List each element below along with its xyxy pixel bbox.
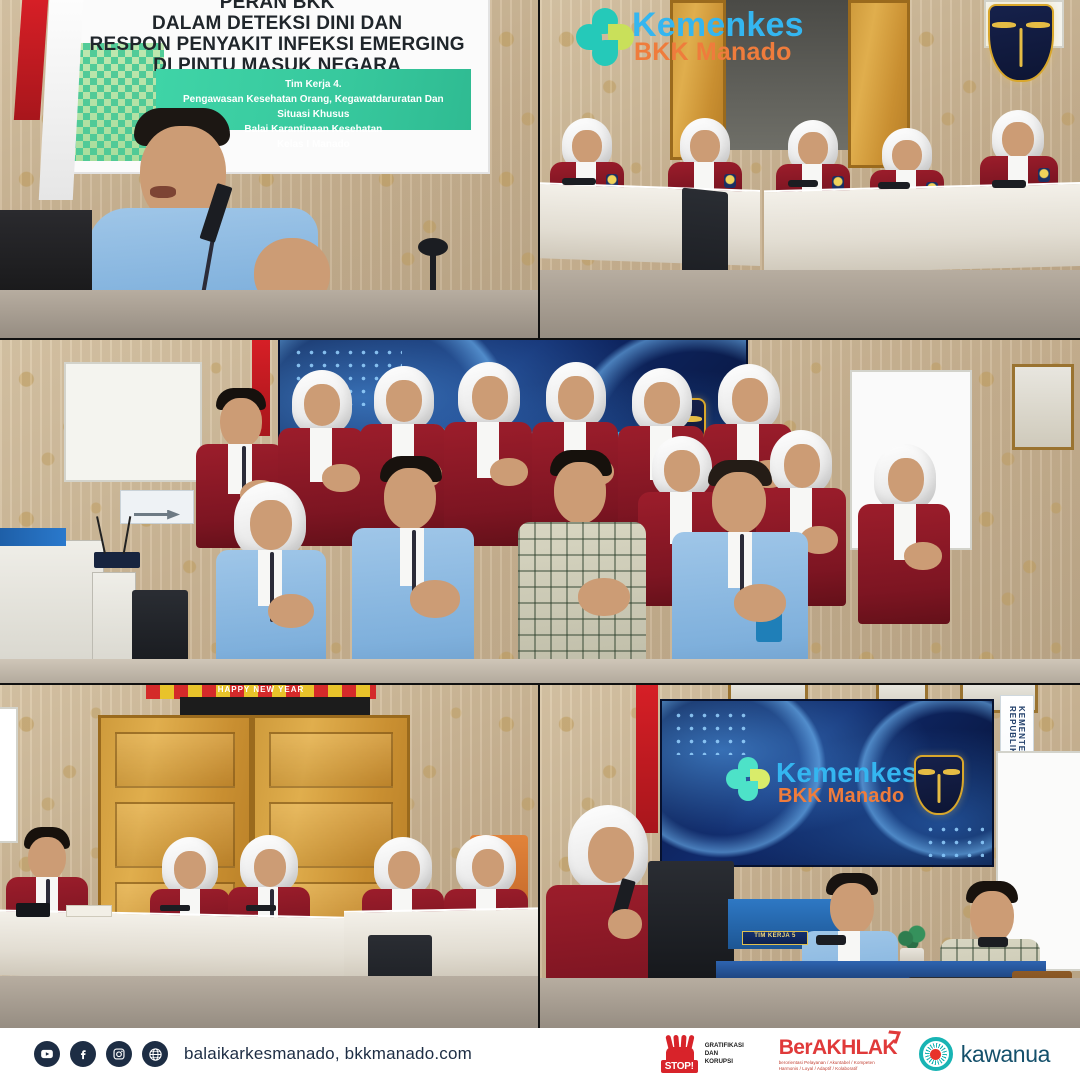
table-microphone <box>992 180 1026 188</box>
collage-grid: PERAN BKK DALAM DETEKSI DINI DAN RESPON … <box>0 0 1080 1028</box>
social-handle-text: balaikarkesmanado, bkkmanado.com <box>184 1044 472 1064</box>
microphone-head <box>418 238 448 256</box>
berakhlak-logo: BerAKHLAK berorientasi Pelayanan / Akunt… <box>779 1037 897 1072</box>
seated-student <box>980 110 1058 184</box>
berakhlak-tick-icon <box>885 1030 901 1043</box>
floor <box>0 659 1080 683</box>
slide-title: PERAN BKK DALAM DETEKSI DINI DAN RESPON … <box>79 0 475 77</box>
group-member-front <box>216 482 326 683</box>
group-member <box>858 444 950 622</box>
table-microphone <box>562 178 596 185</box>
led-backdrop-screen: Kemenkes BKK Manado <box>660 699 994 867</box>
institutional-logos: STOP! GRATIFIKASI DAN KORUPSI BerAKHLAK … <box>659 1033 1050 1075</box>
table-microphone <box>816 935 846 945</box>
seated-student <box>668 118 742 188</box>
wireless-router <box>94 552 140 568</box>
photo-meeting-room-students: Kemenkes BKK Manado <box>540 0 1080 338</box>
table-microphone <box>878 182 910 189</box>
table-microphone <box>788 180 818 187</box>
stop-hand-icon: STOP! <box>659 1034 703 1074</box>
wall-frame <box>1012 364 1074 450</box>
instagram-icon[interactable] <box>106 1041 132 1067</box>
kawanua-mark-icon <box>919 1037 953 1071</box>
wall-whiteboard <box>64 362 202 482</box>
photo-led-screen-presentation: Kemenkes BKK Manado KEMENTERIAN KESEHATA… <box>540 685 1080 1028</box>
table-nameplate: TIM KERJA 5 <box>742 931 808 945</box>
berakhlak-tagline: berorientasi Pelayanan / Akuntabel / Kom… <box>779 1060 897 1072</box>
table-microphone <box>978 937 1008 947</box>
stop-gratifikasi-logo: STOP! GRATIFIKASI DAN KORUPSI <box>659 1033 757 1075</box>
table-microphone <box>246 905 276 911</box>
table-microphone <box>160 905 190 911</box>
youtube-icon[interactable] <box>34 1041 60 1067</box>
kawanua-logo: kawanua <box>919 1037 1050 1071</box>
berakhlak-wordmark: BerAKHLAK <box>779 1037 897 1058</box>
photo-group-salute: Kemenkes <box>0 340 1080 683</box>
floor <box>540 978 1080 1028</box>
overlay-brand-subtitle: BKK Manado <box>634 38 792 67</box>
footer-bar: balaikarkesmanado, bkkmanado.com STOP! G… <box>0 1028 1080 1080</box>
screen-brand-subtitle: BKK Manado <box>778 785 904 808</box>
kawanua-wordmark: kawanua <box>961 1041 1050 1068</box>
door-transom <box>180 697 370 715</box>
kemenkes-logo-overlay <box>562 6 636 80</box>
floor <box>540 270 1080 338</box>
floor <box>0 976 538 1028</box>
paper-document <box>66 905 112 917</box>
website-globe-icon[interactable] <box>142 1041 168 1067</box>
directional-sign <box>120 490 194 524</box>
group-member-front <box>352 456 474 683</box>
floor <box>0 290 538 338</box>
group-member-front <box>672 460 808 683</box>
photo-students-wooden-doors: HAPPY NEW YEAR <box>0 685 538 1028</box>
conference-table-right <box>764 182 1080 275</box>
social-icons-group <box>34 1041 168 1067</box>
presenter-mouth <box>150 186 176 198</box>
photo-presenter-slide: PERAN BKK DALAM DETEKSI DINI DAN RESPON … <box>0 0 538 338</box>
device-on-table <box>16 903 50 917</box>
facebook-icon[interactable] <box>70 1041 96 1067</box>
shelf-file-box <box>0 528 66 546</box>
photo-collage-poster: PERAN BKK DALAM DETEKSI DINI DAN RESPON … <box>0 0 1080 1080</box>
group-member-front <box>518 450 646 683</box>
stop-word: STOP! <box>661 1060 698 1073</box>
conference-table-left <box>0 909 346 982</box>
wall-board <box>0 707 18 843</box>
stop-logo-text: GRATIFIKASI DAN KORUPSI <box>705 1042 744 1065</box>
